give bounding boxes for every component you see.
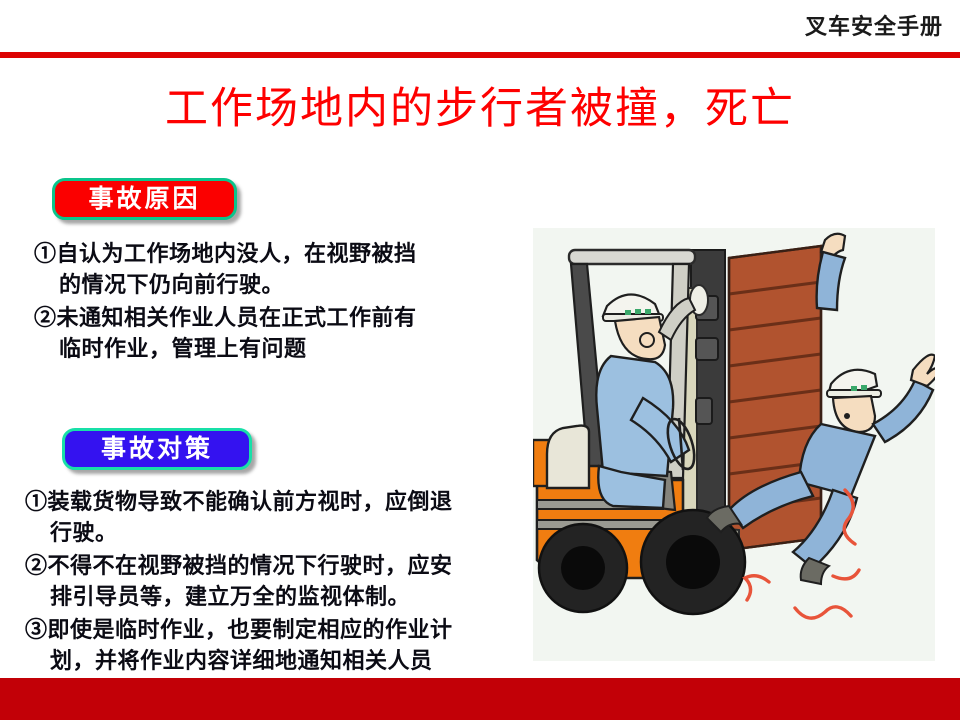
accident-cause-list: ①自认为工作场地内没人，在视野被挡 的情况下仍向前行驶。 ②未通知相关作业人员在… [34,238,514,366]
header-divider [0,52,960,58]
cause-item-2-line-2: 临时作业，管理上有问题 [34,333,514,364]
manual-title: 叉车安全手册 [805,9,943,41]
accident-countermeasure-badge: 事故对策 [62,428,252,470]
measure-item-1-line-1: ①装载货物导致不能确认前方视时，应倒退 [25,486,535,517]
measure-item-3-line-2: 划，并将作业内容详细地通知相关人员 [25,645,535,676]
measure-item-1-line-2: 行驶。 [25,517,535,548]
page-header: 叉车安全手册 [0,0,960,56]
footer-bar [0,678,960,720]
list-item: ②不得不在视野被挡的情况下行驶时，应安 排引导员等，建立万全的监视体制。 [25,550,535,612]
measure-item-2-line-1: ②不得不在视野被挡的情况下行驶时，应安 [25,550,535,581]
accident-countermeasure-list: ①装载货物导致不能确认前方视时，应倒退 行驶。 ②不得不在视野被挡的情况下行驶时… [25,486,535,678]
list-item: ①装载货物导致不能确认前方视时，应倒退 行驶。 [25,486,535,548]
accident-illustration [533,228,935,661]
measure-item-2-line-2: 排引导员等，建立万全的监视体制。 [25,581,535,612]
list-item: ③即使是临时作业，也要制定相应的作业计 划，并将作业内容详细地通知相关人员 [25,614,535,676]
accident-cause-badge: 事故原因 [52,178,237,220]
forklift-collision-illustration [533,228,935,661]
cause-item-1-line-2: 的情况下仍向前行驶。 [34,269,514,300]
page-title: 工作场地内的步行者被撞，死亡 [0,84,960,136]
measure-item-3-line-1: ③即使是临时作业，也要制定相应的作业计 [25,614,535,645]
cause-item-2-line-1: ②未通知相关作业人员在正式工作前有 [34,302,514,333]
cause-item-1-line-1: ①自认为工作场地内没人，在视野被挡 [34,238,514,269]
list-item: ①自认为工作场地内没人，在视野被挡 的情况下仍向前行驶。 [34,238,514,300]
list-item: ②未通知相关作业人员在正式工作前有 临时作业，管理上有问题 [34,302,514,364]
